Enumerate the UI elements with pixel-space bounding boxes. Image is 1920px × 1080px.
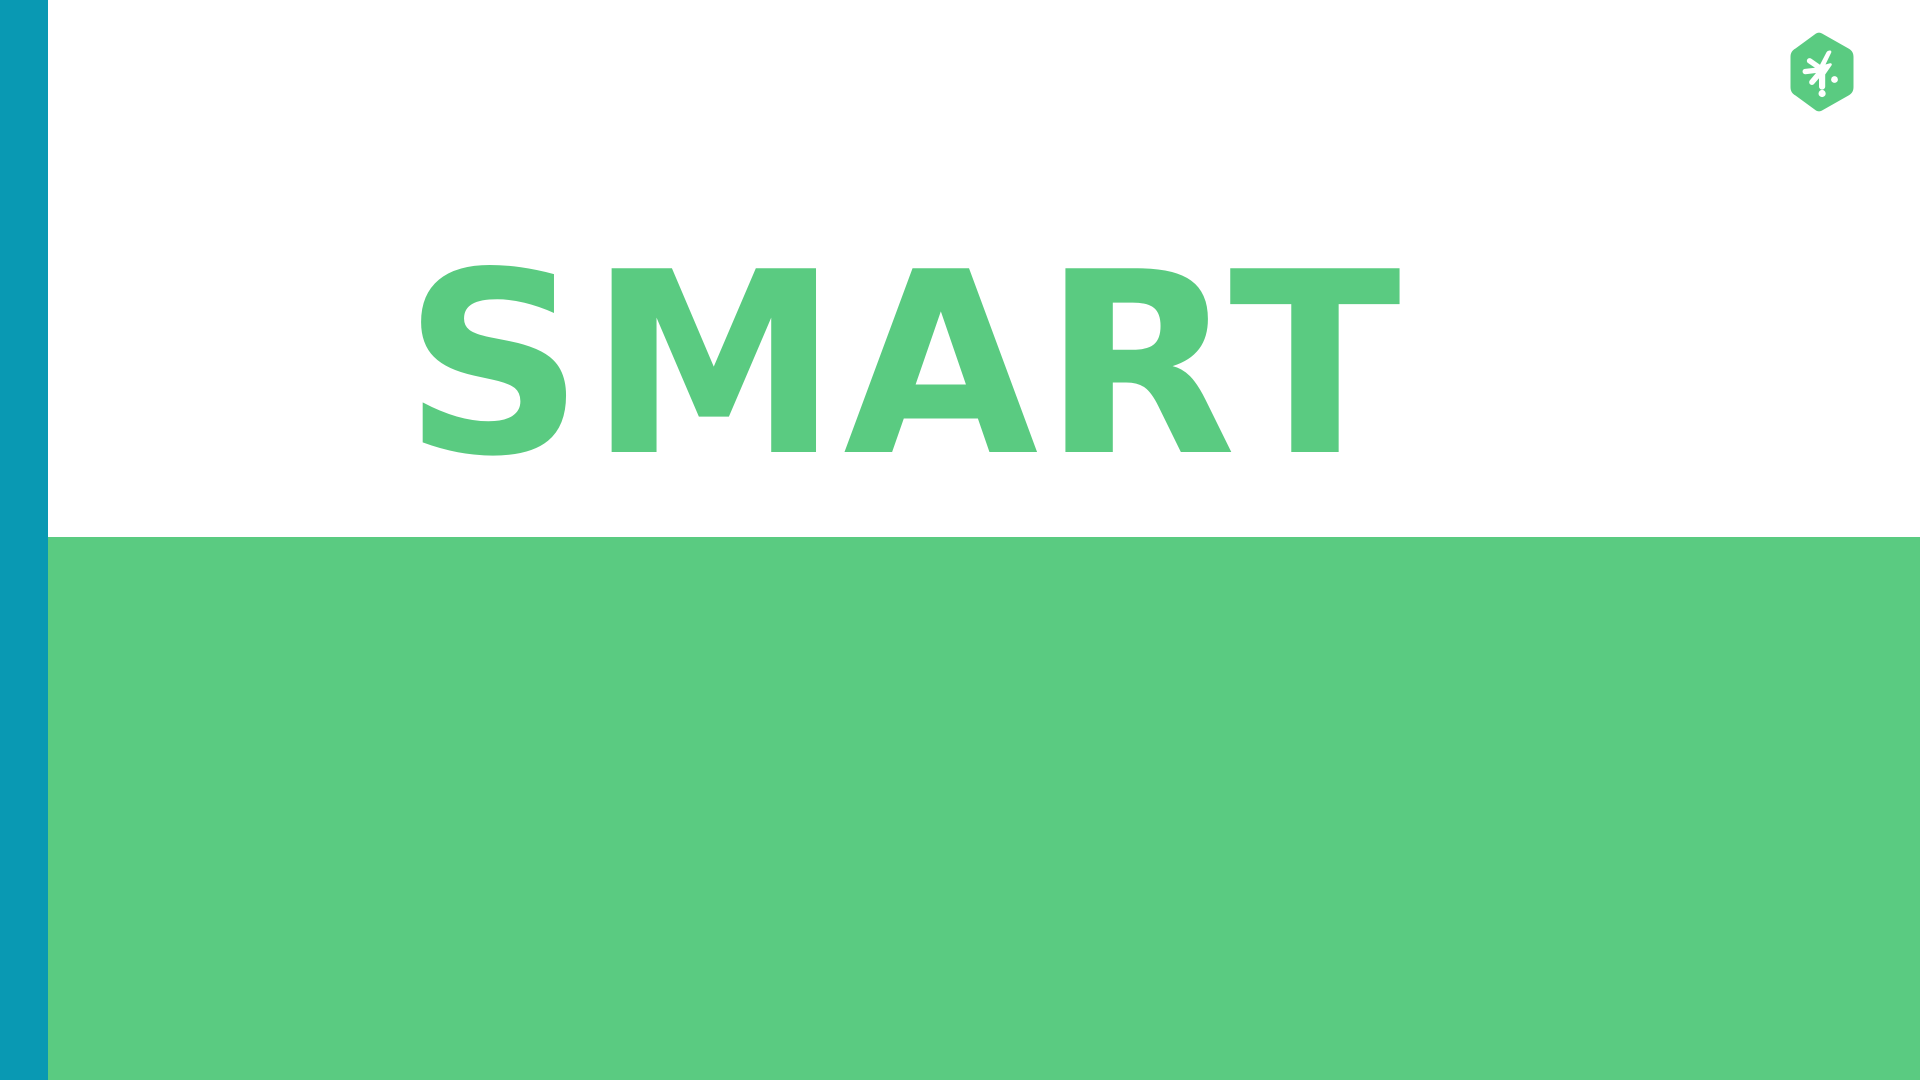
title-region: SMART (48, 0, 1920, 537)
smart-slide: SMART Specific Measurable Achievable Rel… (0, 0, 1920, 1080)
page-title: SMART (403, 240, 1405, 492)
attributes-panel: Specific Measurable Achievable Relevant … (48, 537, 1920, 1080)
left-accent-bar (0, 0, 48, 1080)
hexagon-root-logo-icon (1789, 32, 1855, 112)
